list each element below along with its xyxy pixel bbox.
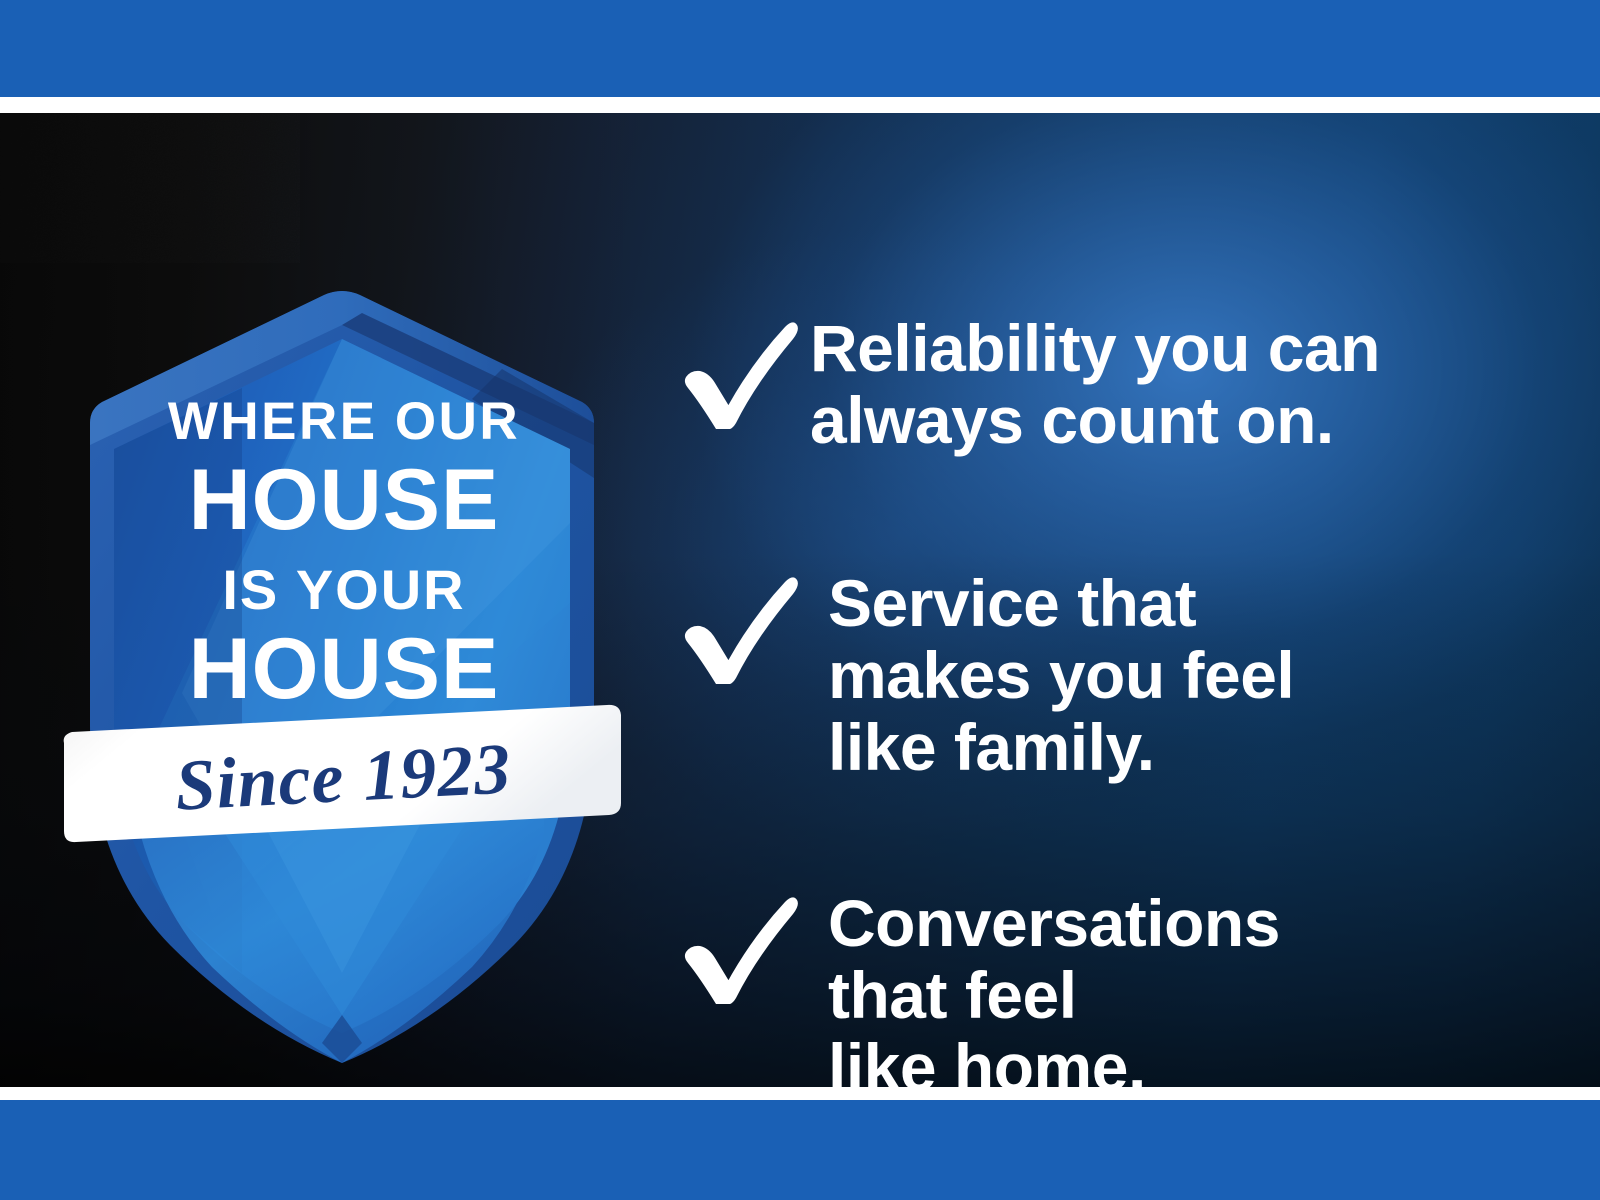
checklist-text: Reliability you can always count on. [810, 311, 1380, 457]
checkmark-icon [660, 566, 800, 686]
checklist-text: Service that makes you feel like family. [828, 566, 1294, 784]
checklist-item-reliability: Reliability you can always count on. [660, 311, 1380, 457]
promo-graphic: WHERE OUR HOUSE IS YOUR HOUSE Since 1923 [0, 0, 1600, 1200]
benefits-checklist: Reliability you can always count on. Ser… [660, 226, 1560, 1087]
tagline-line-4: HOUSE [189, 621, 500, 717]
bottom-brand-bar [0, 1100, 1600, 1200]
main-canvas: WHERE OUR HOUSE IS YOUR HOUSE Since 1923 [0, 113, 1600, 1087]
checkmark-icon [660, 311, 800, 431]
background-noise-texture [0, 113, 300, 263]
checklist-item-service: Service that makes you feel like family. [660, 566, 1294, 784]
checklist-item-conversations: Conversations that feel like home. [660, 886, 1280, 1087]
tagline-line-1: WHERE OUR [168, 392, 520, 451]
checkmark-icon [660, 886, 800, 1006]
tagline-line-2: HOUSE [189, 452, 500, 548]
top-brand-bar [0, 0, 1600, 97]
tagline-line-3: IS YOUR [222, 558, 465, 621]
shield-logo: WHERE OUR HOUSE IS YOUR HOUSE Since 1923 [62, 273, 622, 1083]
checklist-text: Conversations that feel like home. [828, 886, 1280, 1087]
